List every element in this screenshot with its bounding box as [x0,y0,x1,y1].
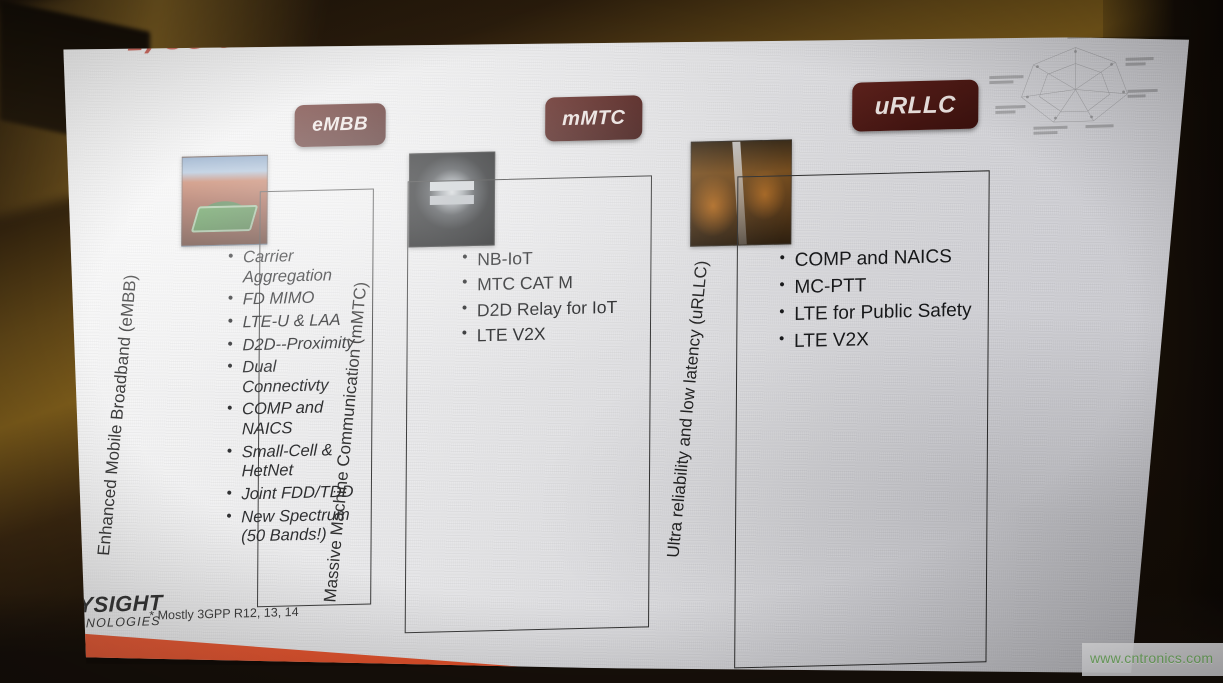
presentation-slide: 1) 5G Use Cases with 4G Foundations: 3GP… [23,16,1196,680]
list-item: MC-PTT [777,272,972,301]
list-item: FD MIMO [226,288,366,311]
list-item: LTE for Public Safety [777,299,972,328]
column-label-urllc: Ultra reliability and low latency (uRLLC… [663,246,713,559]
badge-embb[interactable]: eMBB [294,103,385,147]
keysight-arrow-icon [30,601,42,612]
badge-urllc[interactable]: uRLLC [852,80,978,132]
list-item: LTE V2X [460,321,640,348]
stadium-photo [181,155,268,247]
slide-title: 1) 5G Use Cases with 4G Foundations: 3GP… [127,16,888,58]
site-watermark: www.cntronics.com [1090,650,1213,666]
bullet-list-mmtc: NB-IoT MTC CAT M D2D Relay for IoT LTE V… [460,244,641,350]
list-item: LTE V2X [777,326,972,355]
badge-mmtc-label: mMTC [562,106,625,131]
slide-wrapper: 1) 5G Use Cases with 4G Foundations: 3GP… [0,0,1223,683]
list-item: MTC CAT M [460,270,640,297]
badge-mmtc[interactable]: mMTC [545,95,642,141]
badge-embb-label: eMBB [312,113,368,136]
bullet-list-urllc: COMP and NAICS MC-PTT LTE for Public Saf… [777,245,973,358]
column-label-embb: Enhanced Mobile Broadband (eMBB) [94,246,144,557]
list-item: Carrier Aggregation [226,245,366,288]
spider-diagram [975,30,1175,140]
list-item: COMP and NAICS [778,245,973,274]
keysight-logo: KEYSIGHT TECHNOLOGIES [30,590,163,632]
slide-content: 1) 5G Use Cases with 4G Foundations: 3GP… [23,16,1196,680]
badge-urllc-label: uRLLC [875,91,956,121]
footnote: * Mostly 3GPP R12, 13, 14 [149,605,298,623]
list-item: D2D Relay for IoT [460,295,640,322]
photo-of-projected-slide: 1) 5G Use Cases with 4G Foundations: 3GP… [0,0,1223,683]
logo-subtitle: TECHNOLOGIES [47,614,163,632]
list-item: NB-IoT [460,244,640,271]
list-item: LTE-U & LAA [226,310,366,333]
